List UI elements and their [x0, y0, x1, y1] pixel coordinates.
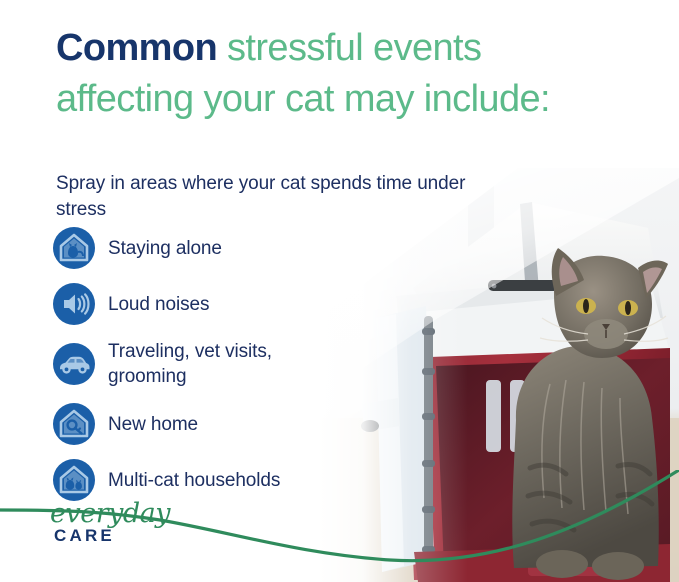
- stressful-events-list: Staying alone Loud noises: [52, 224, 342, 512]
- house-multi-cat-icon: [52, 458, 96, 502]
- list-item: Traveling, vet visits, grooming: [52, 336, 342, 392]
- list-item: Loud noises: [52, 280, 342, 328]
- list-item-label: Multi-cat households: [108, 468, 280, 493]
- list-item-label: Staying alone: [108, 236, 222, 261]
- list-item-label: Traveling, vet visits, grooming: [108, 339, 342, 389]
- infographic-canvas: Common stressful events affecting your c…: [0, 0, 679, 582]
- page-title: Common stressful events affecting your c…: [56, 23, 596, 125]
- car-icon: [52, 342, 96, 386]
- photo-illustration: [318, 168, 679, 582]
- list-item-label: New home: [108, 412, 198, 437]
- speaker-loud-icon: [52, 282, 96, 326]
- house-cat-icon: [52, 226, 96, 270]
- list-item: New home: [52, 400, 342, 448]
- subtitle-text: Spray in areas where your cat spends tim…: [56, 171, 466, 223]
- list-item-label: Loud noises: [108, 292, 209, 317]
- list-item: Staying alone: [52, 224, 342, 272]
- everyday-care-logo: everyday CARE: [48, 500, 188, 548]
- logo-script-word: everyday: [50, 498, 170, 529]
- logo-care-word: CARE: [54, 526, 115, 546]
- cat-carrier-photo: [318, 168, 679, 582]
- list-item: Multi-cat households: [52, 456, 342, 504]
- house-key-icon: [52, 402, 96, 446]
- headline-lead: Common: [56, 27, 217, 69]
